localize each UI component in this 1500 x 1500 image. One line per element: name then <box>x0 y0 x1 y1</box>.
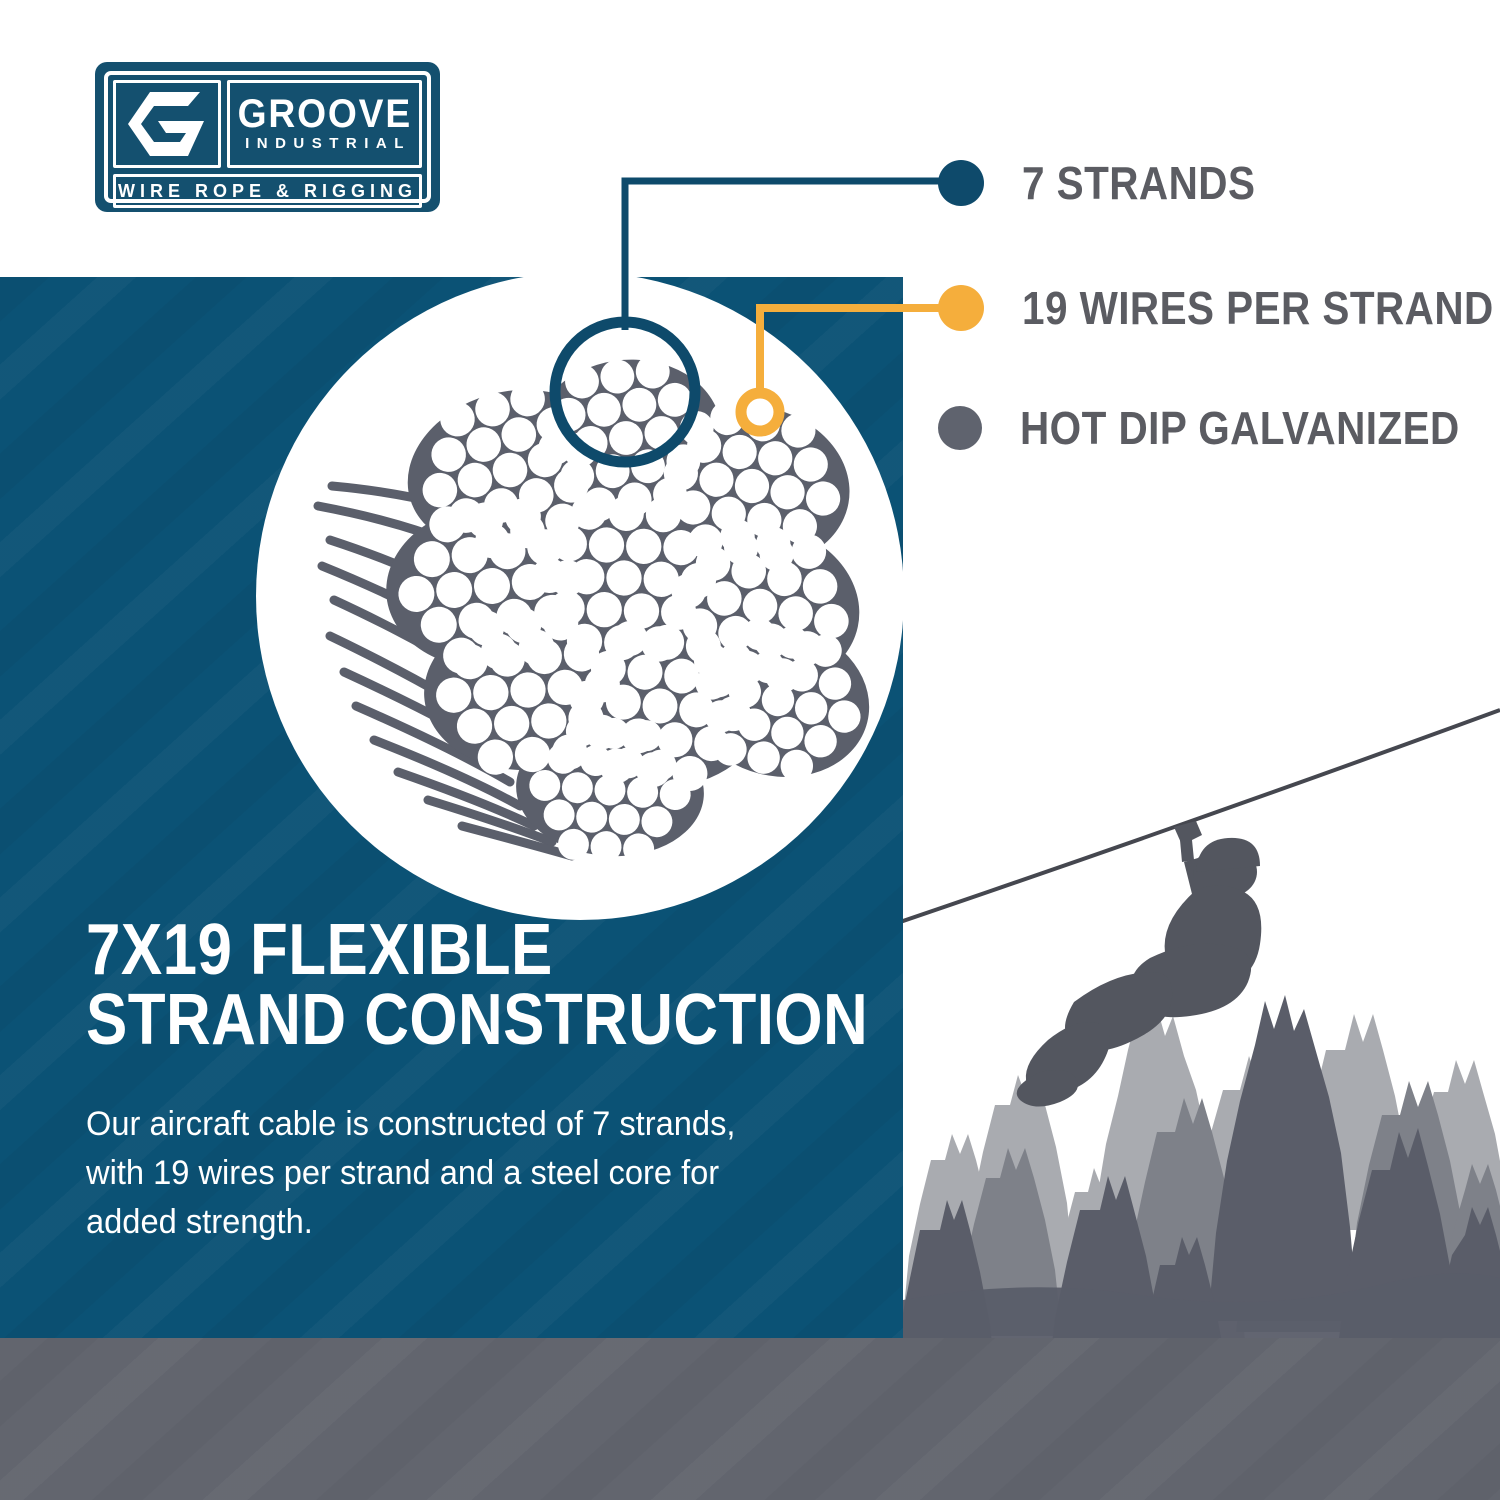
headline-line-2: STRAND CONSTRUCTION <box>86 986 765 1056</box>
headline-line-1: 7X19 FLEXIBLE <box>86 910 553 990</box>
logo-top-row: GROOVE INDUSTRIAL <box>113 80 422 168</box>
logo-name-cell: GROOVE INDUSTRIAL <box>227 80 422 168</box>
logo-mark-cell <box>113 80 221 168</box>
headline-block: 7X19 FLEXIBLE STRAND CONSTRUCTION Our ai… <box>86 916 876 1247</box>
callout-strands[interactable]: 7 STRANDS <box>938 160 1287 206</box>
page-title: 7X19 FLEXIBLE STRAND CONSTRUCTION <box>86 916 765 1056</box>
bottom-gray-band <box>0 1338 1500 1500</box>
callout-leader-lines <box>0 0 1500 1500</box>
callout-dot-strands <box>938 160 984 206</box>
logo-tagline-bar: WIRE ROPE & RIGGING <box>113 174 422 208</box>
callout-dot-wires <box>938 285 984 331</box>
brand-logo[interactable]: GROOVE INDUSTRIAL WIRE ROPE & RIGGING <box>95 62 440 212</box>
callout-dot-galvanized <box>938 406 982 450</box>
callout-label-strands: 7 STRANDS <box>1022 160 1255 206</box>
body-copy: Our aircraft cable is constructed of 7 s… <box>86 1100 748 1247</box>
groove-g-mark-icon <box>128 92 206 156</box>
strand-highlight-circle-icon <box>555 322 695 462</box>
leader-line-wires <box>760 308 961 412</box>
logo-subword: INDUSTRIAL <box>238 135 411 152</box>
callout-label-galvanized: HOT DIP GALVANIZED <box>1020 405 1460 451</box>
infographic-canvas: GROOVE INDUSTRIAL WIRE ROPE & RIGGING 7 … <box>0 0 1500 1500</box>
logo-wordmark: GROOVE <box>237 96 411 133</box>
wire-ring-marker-icon <box>741 393 779 431</box>
callout-galvanized[interactable]: HOT DIP GALVANIZED <box>938 405 1500 451</box>
callout-wires[interactable]: 19 WIRES PER STRAND <box>938 285 1500 331</box>
logo-tagline: WIRE ROPE & RIGGING <box>118 181 417 202</box>
callout-label-wires: 19 WIRES PER STRAND <box>1022 285 1494 331</box>
gray-band-texture <box>0 1338 1500 1500</box>
